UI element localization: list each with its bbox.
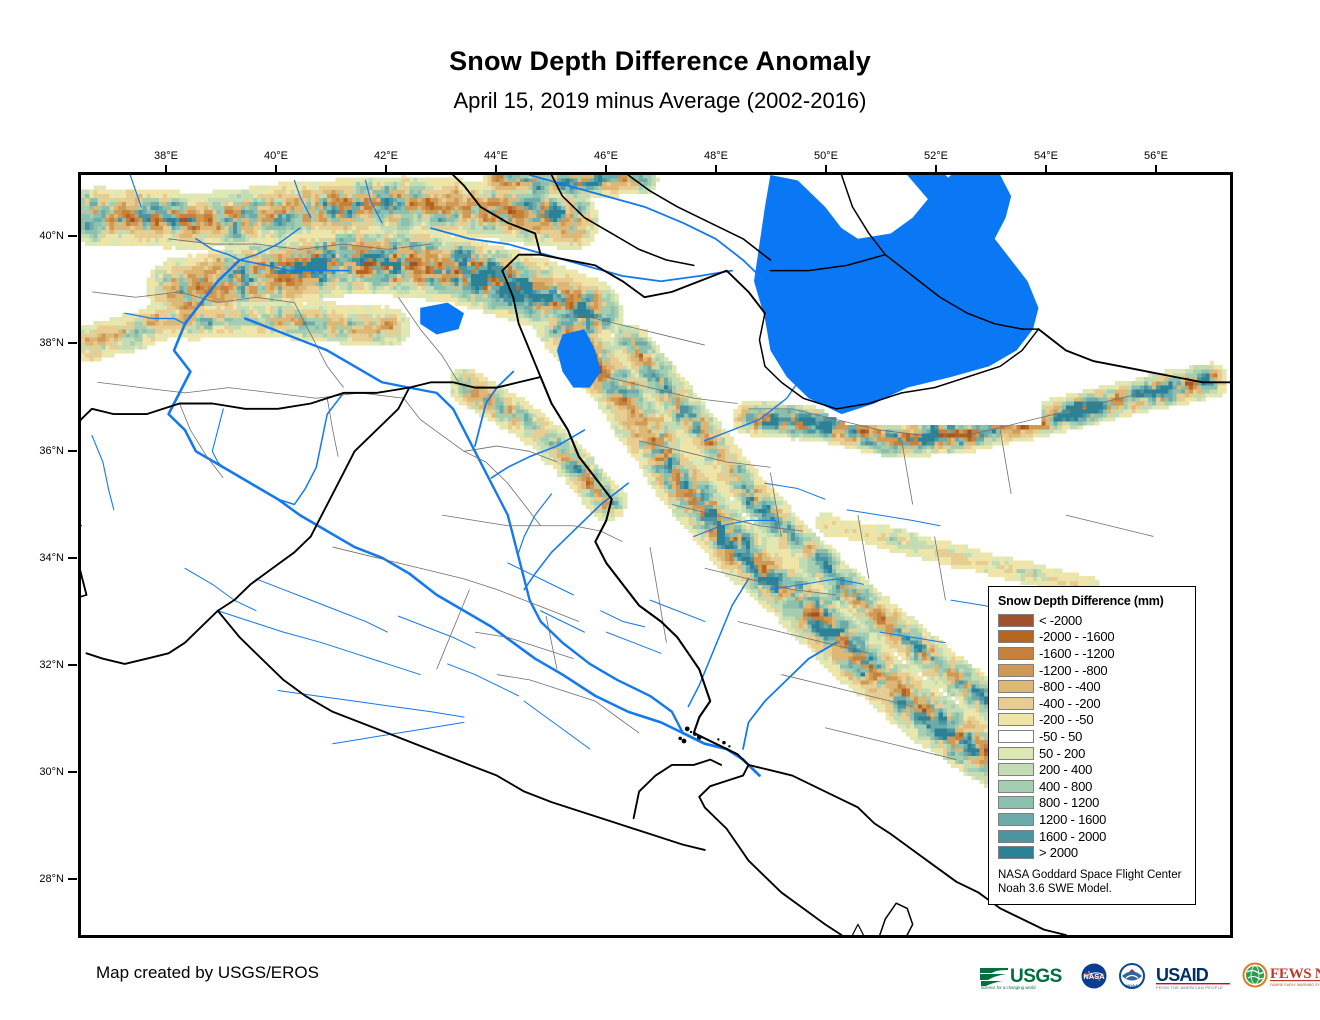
legend-source-line2: Noah 3.6 SWE Model. bbox=[998, 882, 1187, 896]
page-title: Snow Depth Difference Anomaly bbox=[0, 46, 1320, 77]
admin-boundary bbox=[541, 526, 623, 542]
river bbox=[683, 733, 760, 776]
legend-label: -50 - 50 bbox=[1039, 729, 1082, 744]
marsh-blob bbox=[690, 731, 692, 733]
legend-label: 1200 - 1600 bbox=[1039, 812, 1106, 827]
river bbox=[688, 579, 748, 707]
river bbox=[398, 616, 475, 648]
admin-boundary bbox=[97, 382, 403, 398]
legend-swatch bbox=[998, 846, 1034, 859]
country-border bbox=[81, 595, 86, 611]
admin-boundary bbox=[333, 547, 497, 589]
lat-tick bbox=[68, 664, 77, 666]
marsh-blob bbox=[697, 735, 702, 740]
legend-swatch bbox=[998, 664, 1034, 677]
legend-row: 50 - 200 bbox=[998, 745, 1187, 762]
legend-swatch bbox=[998, 713, 1034, 726]
river bbox=[333, 722, 464, 743]
legend-row: > 2000 bbox=[998, 844, 1187, 861]
admin-boundary bbox=[497, 675, 595, 702]
legend-swatch bbox=[998, 614, 1034, 627]
lat-label-36°N: 36°N bbox=[39, 445, 64, 457]
legend-label: 1600 - 2000 bbox=[1039, 829, 1106, 844]
legend-source: NASA Goddard Space Flight Center Noah 3.… bbox=[998, 868, 1187, 897]
country-border bbox=[852, 924, 863, 935]
lat-tick bbox=[68, 771, 77, 773]
caspian-sea bbox=[754, 175, 1039, 414]
admin-boundary bbox=[650, 547, 666, 643]
legend-title: Snow Depth Difference (mm) bbox=[998, 594, 1187, 608]
lon-label-56°E: 56°E bbox=[1144, 150, 1168, 162]
legend-row: 1200 - 1600 bbox=[998, 811, 1187, 828]
country-border bbox=[81, 388, 409, 420]
usaid-logo[interactable]: USAID FROM THE AMERICAN PEOPLE bbox=[1155, 959, 1233, 993]
nasa-logo[interactable]: NASA bbox=[1079, 959, 1109, 993]
legend-row: 1600 - 2000 bbox=[998, 828, 1187, 845]
marsh-blob bbox=[685, 726, 690, 731]
lon-label-48°E: 48°E bbox=[704, 150, 728, 162]
river bbox=[212, 409, 223, 467]
country-border bbox=[218, 611, 705, 850]
noaa-logo[interactable]: NOAA bbox=[1118, 959, 1146, 993]
marsh-blob bbox=[682, 739, 687, 744]
legend-swatch bbox=[998, 630, 1034, 643]
country-border bbox=[880, 903, 913, 935]
legend-row: 800 - 1200 bbox=[998, 795, 1187, 812]
map-legend: Snow Depth Difference (mm) < -2000-2000 … bbox=[988, 586, 1196, 905]
marsh-blob bbox=[678, 737, 682, 741]
lat-label-38°N: 38°N bbox=[39, 337, 64, 349]
lon-label-40°E: 40°E bbox=[264, 150, 288, 162]
legend-label: -1600 - -1200 bbox=[1039, 646, 1114, 661]
country-border bbox=[218, 388, 409, 611]
legend-swatch bbox=[998, 697, 1034, 710]
lat-label-28°N: 28°N bbox=[39, 873, 64, 885]
river bbox=[448, 664, 519, 696]
legend-row: -200 - -50 bbox=[998, 712, 1187, 729]
legend-row: < -2000 bbox=[998, 612, 1187, 629]
lat-tick bbox=[68, 557, 77, 559]
map-credit: Map created by USGS/EROS bbox=[96, 963, 319, 983]
river bbox=[256, 579, 387, 632]
usgs-logo[interactable]: USGS science for a changing world bbox=[978, 959, 1070, 993]
legend-row: -400 - -200 bbox=[998, 695, 1187, 712]
lon-label-42°E: 42°E bbox=[374, 150, 398, 162]
country-border bbox=[81, 419, 86, 594]
legend-swatch bbox=[998, 730, 1034, 743]
legend-label: < -2000 bbox=[1039, 613, 1082, 628]
river bbox=[606, 632, 661, 653]
legend-swatch bbox=[998, 747, 1034, 760]
lat-label-32°N: 32°N bbox=[39, 659, 64, 671]
legend-row: -1600 - -1200 bbox=[998, 645, 1187, 662]
admin-boundary bbox=[1066, 515, 1154, 536]
river bbox=[524, 701, 590, 749]
lake-van bbox=[420, 303, 464, 335]
river bbox=[601, 611, 645, 627]
legend-label: > 2000 bbox=[1039, 845, 1078, 860]
legend-label: -400 - -200 bbox=[1039, 696, 1100, 711]
country-border bbox=[699, 754, 841, 935]
admin-boundary bbox=[486, 462, 541, 526]
lat-label-30°N: 30°N bbox=[39, 766, 64, 778]
lon-label-50°E: 50°E bbox=[814, 150, 838, 162]
legend-row: -1200 - -800 bbox=[998, 662, 1187, 679]
lat-tick bbox=[68, 878, 77, 880]
lat-label-40°N: 40°N bbox=[39, 230, 64, 242]
legend-row: -800 - -400 bbox=[998, 678, 1187, 695]
admin-boundary bbox=[179, 403, 223, 477]
legend-label: 400 - 800 bbox=[1039, 779, 1092, 794]
legend-label: 200 - 400 bbox=[1039, 762, 1092, 777]
legend-swatch bbox=[998, 647, 1034, 660]
river bbox=[218, 611, 420, 675]
lat-label-34°N: 34°N bbox=[39, 552, 64, 564]
legend-row: 200 - 400 bbox=[998, 761, 1187, 778]
legend-label: -2000 - -1600 bbox=[1039, 629, 1114, 644]
lon-label-46°E: 46°E bbox=[594, 150, 618, 162]
admin-boundary bbox=[475, 632, 573, 659]
agency-logos: USGS science for a changing world NASA N… bbox=[978, 958, 1320, 994]
country-border bbox=[86, 611, 217, 664]
legend-swatch bbox=[998, 763, 1034, 776]
river bbox=[519, 494, 552, 552]
admin-boundary bbox=[442, 515, 540, 526]
map-page: Snow Depth Difference Anomaly April 15, … bbox=[0, 0, 1320, 1020]
admin-boundary bbox=[546, 616, 557, 669]
lon-label-54°E: 54°E bbox=[1034, 150, 1058, 162]
lon-label-44°E: 44°E bbox=[484, 150, 508, 162]
legend-row: 400 - 800 bbox=[998, 778, 1187, 795]
marsh-blob bbox=[693, 732, 697, 736]
page-subtitle: April 15, 2019 minus Average (2002-2016) bbox=[0, 88, 1320, 114]
lat-tick bbox=[68, 450, 77, 452]
legend-swatch bbox=[998, 830, 1034, 843]
lat-tick bbox=[68, 342, 77, 344]
usgs-wave-icon bbox=[980, 968, 1008, 986]
river bbox=[92, 435, 114, 509]
marsh-blob bbox=[728, 745, 730, 747]
legend-source-line1: NASA Goddard Space Flight Center bbox=[998, 868, 1187, 882]
lat-tick bbox=[68, 235, 77, 237]
legend-swatch bbox=[998, 813, 1034, 826]
fewsnet-logo[interactable]: FEWS NET FAMINE EARLY WARNING SYSTEMS NE… bbox=[1242, 959, 1320, 993]
legend-label: 800 - 1200 bbox=[1039, 795, 1099, 810]
lon-label-52°E: 52°E bbox=[924, 150, 948, 162]
legend-rows: < -2000-2000 - -1600-1600 - -1200-1200 -… bbox=[998, 612, 1187, 861]
admin-boundary bbox=[437, 590, 470, 670]
legend-swatch bbox=[998, 780, 1034, 793]
marsh-blob bbox=[722, 741, 726, 745]
legend-row: -2000 - -1600 bbox=[998, 629, 1187, 646]
legend-row: -50 - 50 bbox=[998, 728, 1187, 745]
legend-swatch bbox=[998, 796, 1034, 809]
river bbox=[278, 393, 344, 505]
legend-label: -800 - -400 bbox=[1039, 679, 1100, 694]
legend-label: 50 - 200 bbox=[1039, 746, 1085, 761]
lon-label-38°E: 38°E bbox=[154, 150, 178, 162]
legend-swatch bbox=[998, 680, 1034, 693]
marsh-blob bbox=[717, 738, 719, 740]
legend-label: -1200 - -800 bbox=[1039, 663, 1107, 678]
legend-label: -200 - -50 bbox=[1039, 712, 1093, 727]
river bbox=[278, 691, 464, 718]
